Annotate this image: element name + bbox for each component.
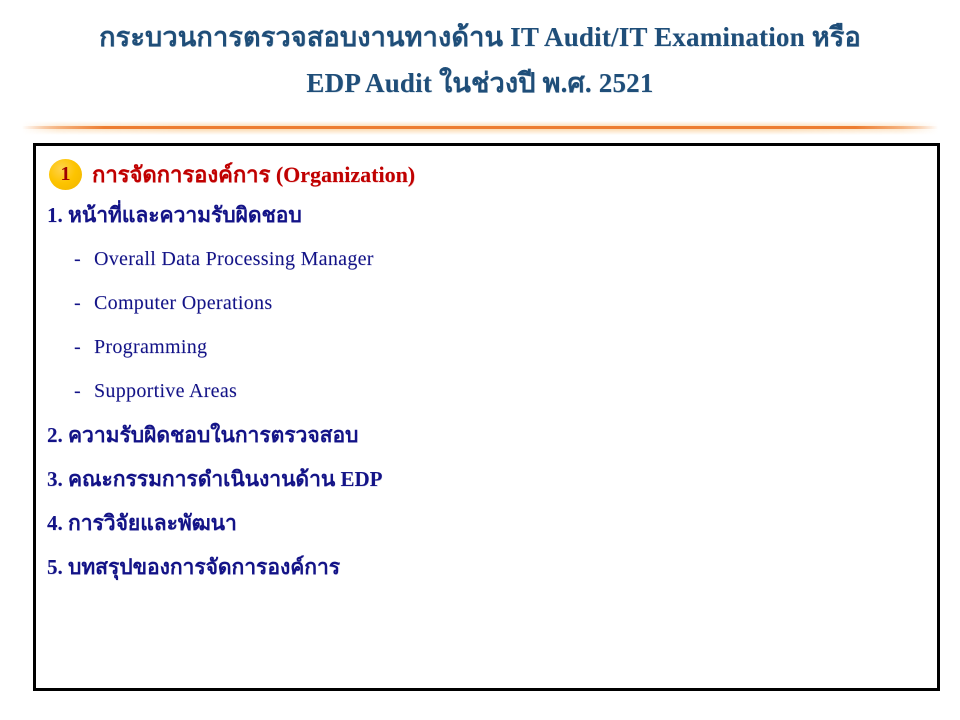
outline-sub-item-label: Computer Operations bbox=[94, 292, 272, 314]
outline-sub-item: -Supportive Areas bbox=[42, 369, 937, 413]
outline-sub-item: -Overall Data Processing Manager bbox=[42, 237, 937, 281]
section-number-badge: 1 bbox=[49, 159, 82, 190]
content-inner: 1 การจัดการองค์การ (Organization) 1. หน้… bbox=[36, 146, 937, 589]
outline-item: 1. หน้าที่และความรับผิดชอบ bbox=[42, 193, 937, 237]
outline-item: 4. การวิจัยและพัฒนา bbox=[42, 501, 937, 545]
title-divider bbox=[22, 121, 938, 135]
content-box: 1 การจัดการองค์การ (Organization) 1. หน้… bbox=[33, 143, 940, 691]
bullet-dash-icon: - bbox=[74, 325, 94, 369]
section-heading: 1 การจัดการองค์การ (Organization) bbox=[44, 157, 937, 191]
outline-item: 2. ความรับผิดชอบในการตรวจสอบ bbox=[42, 413, 937, 457]
title-divider-line bbox=[22, 126, 938, 129]
section-heading-label: การจัดการองค์การ (Organization) bbox=[92, 157, 415, 192]
bullet-dash-icon: - bbox=[74, 237, 94, 281]
outline-sub-item-label: Programming bbox=[94, 336, 207, 358]
outline-item: 5. บทสรุปของการจัดการองค์การ bbox=[42, 545, 937, 589]
page-title-line-1: กระบวนการตรวจสอบงานทางด้าน IT Audit/IT E… bbox=[0, 16, 960, 60]
outline-sub-item-label: Overall Data Processing Manager bbox=[94, 248, 374, 270]
outline-sub-item: -Programming bbox=[42, 325, 937, 369]
page-title-line-2: EDP Audit ในช่วงปี พ.ศ. 2521 bbox=[0, 62, 960, 106]
bullet-dash-icon: - bbox=[74, 281, 94, 325]
outline-sub-item: -Computer Operations bbox=[42, 281, 937, 325]
outline-sub-item-label: Supportive Areas bbox=[94, 380, 237, 402]
bullet-dash-icon: - bbox=[74, 369, 94, 413]
outline-item: 3. คณะกรรมการดำเนินงานด้าน EDP bbox=[42, 457, 937, 501]
page-title: กระบวนการตรวจสอบงานทางด้าน IT Audit/IT E… bbox=[0, 0, 960, 105]
outline-list: 1. หน้าที่และความรับผิดชอบ-Overall Data … bbox=[42, 193, 937, 589]
